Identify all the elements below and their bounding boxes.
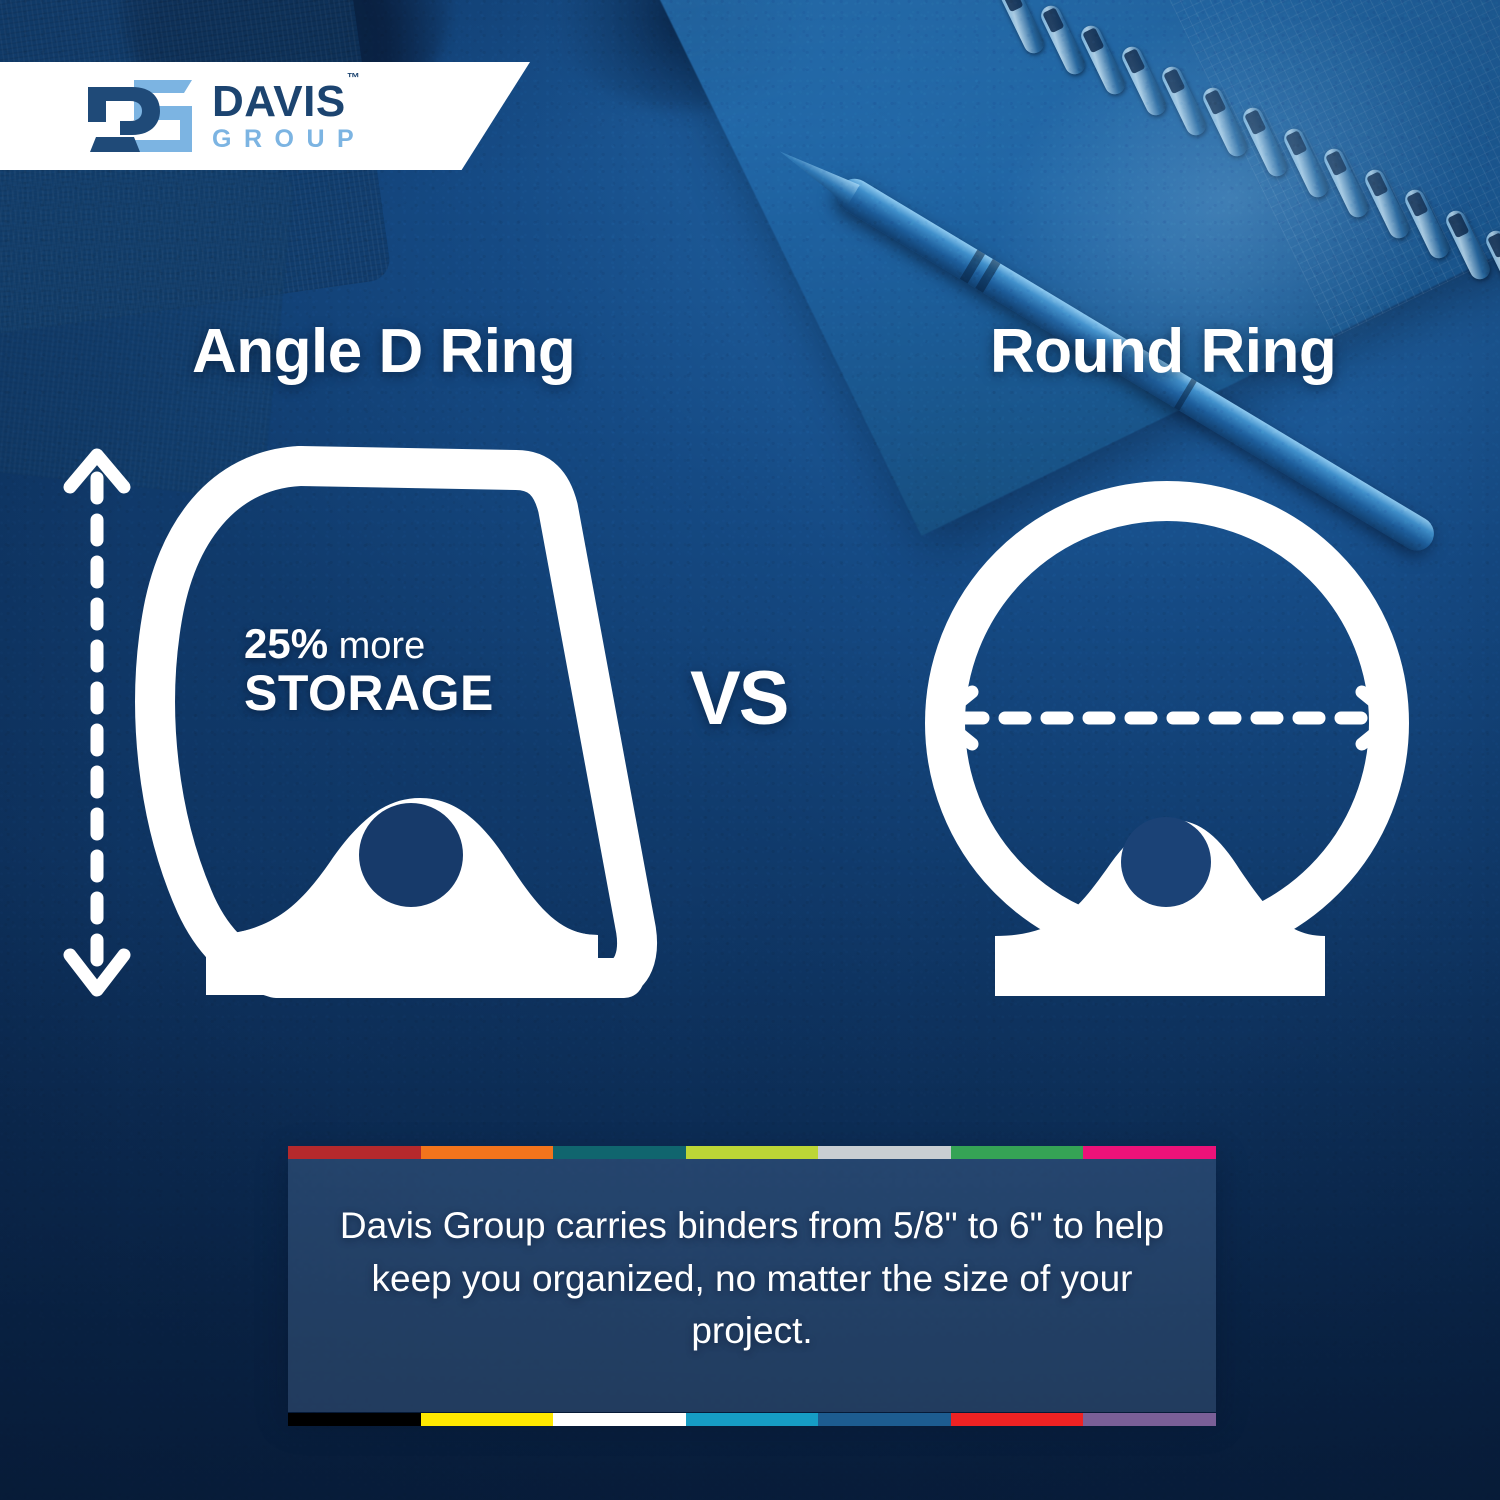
color-swatch-2 [553, 1413, 686, 1426]
color-swatch-4 [818, 1413, 951, 1426]
round-ring-icon [945, 501, 1389, 996]
color-swatch-0 [288, 1146, 421, 1159]
color-swatch-2 [553, 1146, 686, 1159]
versus-label: VS [690, 655, 787, 742]
marketing-infographic: DAVIS™ GROUP Angle D Ring Round Ring [0, 0, 1500, 1500]
color-swatch-5 [951, 1146, 1084, 1159]
color-swatch-4 [818, 1146, 951, 1159]
storage-more-word: more [339, 625, 426, 667]
storage-callout: 25% more STORAGE [244, 622, 494, 719]
storage-percent: 25% [244, 620, 328, 667]
caption-panel: Davis Group carries binders from 5/8" to… [288, 1146, 1216, 1412]
color-strip-bottom [288, 1413, 1216, 1426]
color-strip-top [288, 1146, 1216, 1159]
color-swatch-1 [421, 1146, 554, 1159]
angle-d-ring-icon [155, 466, 637, 995]
color-swatch-3 [686, 1146, 819, 1159]
vertical-dashed-double-arrow-icon [70, 455, 124, 990]
caption-text: Davis Group carries binders from 5/8" to… [322, 1200, 1182, 1358]
storage-emphasis: STORAGE [244, 667, 494, 719]
color-swatch-6 [1083, 1413, 1216, 1426]
color-swatch-0 [288, 1413, 421, 1426]
color-swatch-5 [951, 1413, 1084, 1426]
color-swatch-6 [1083, 1146, 1216, 1159]
color-swatch-3 [686, 1413, 819, 1426]
horizontal-dashed-double-arrow-icon [940, 692, 1394, 744]
color-swatch-1 [421, 1413, 554, 1426]
